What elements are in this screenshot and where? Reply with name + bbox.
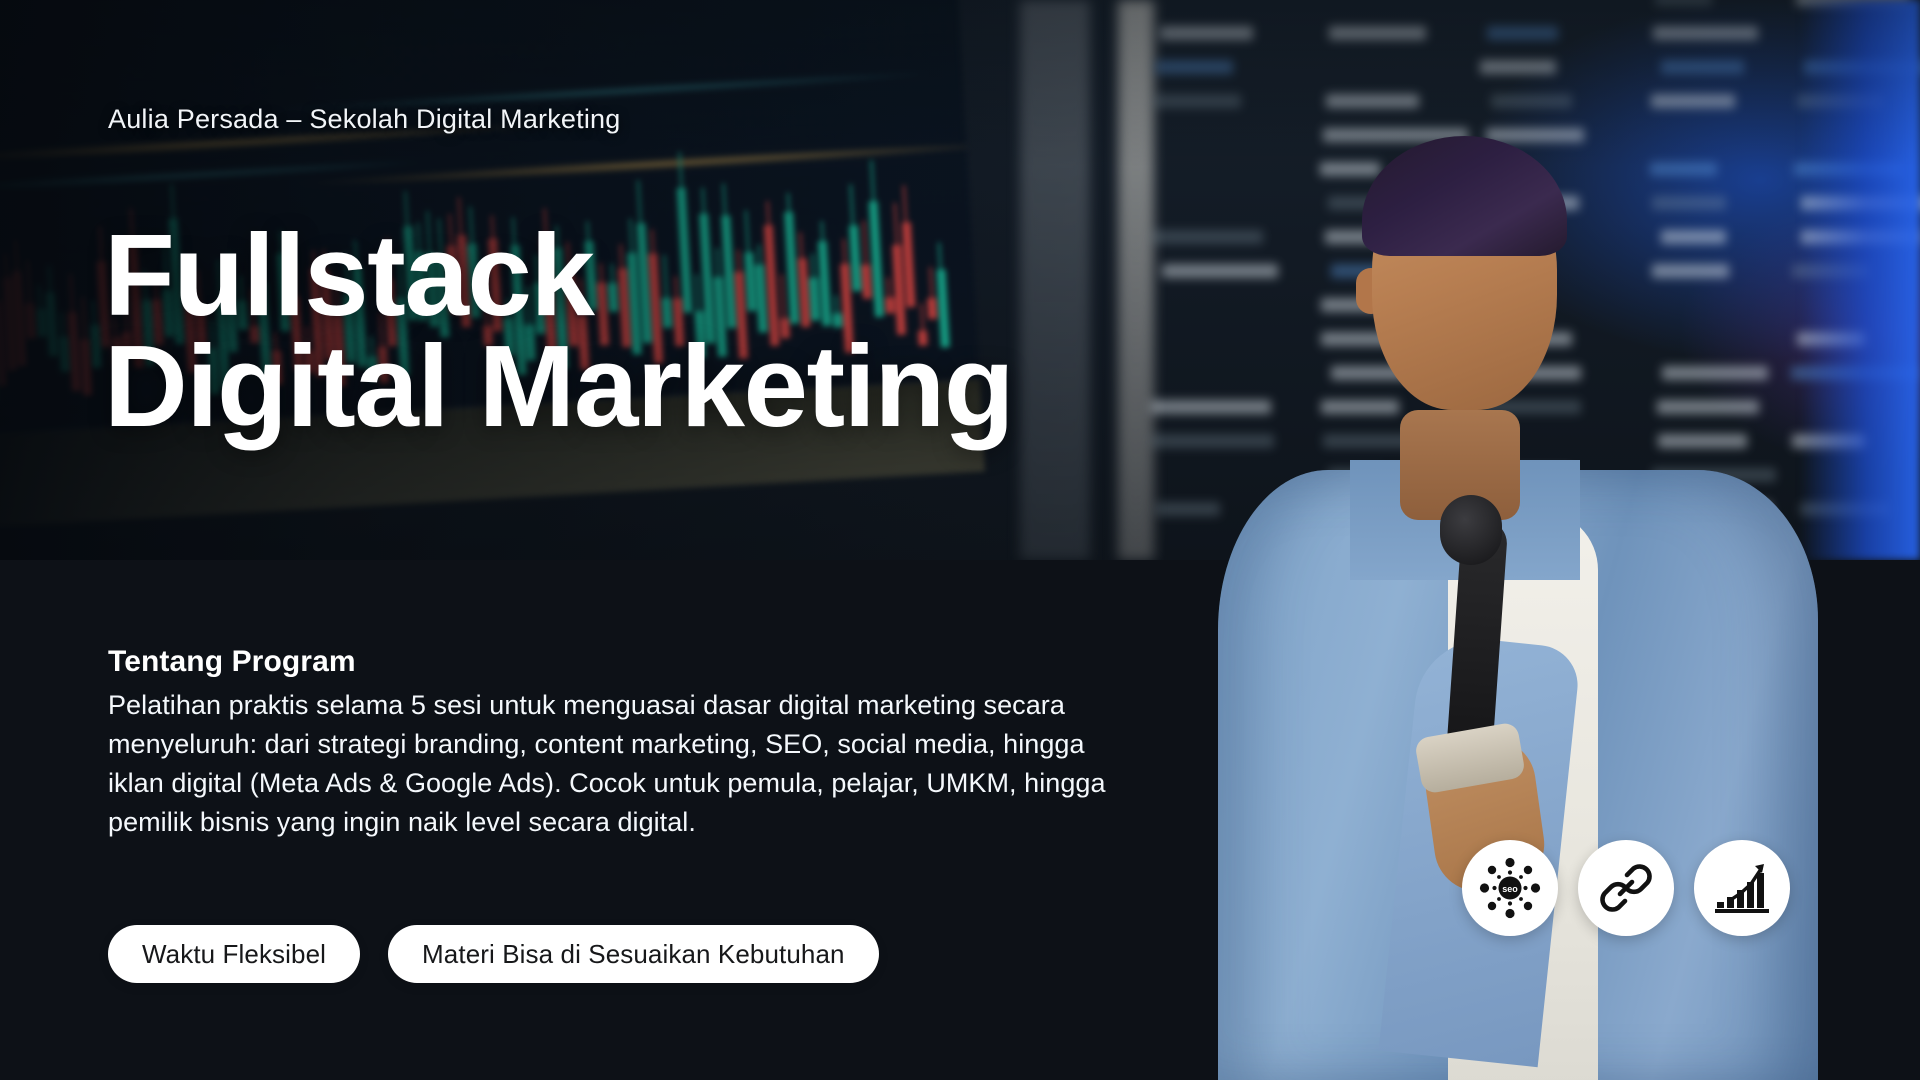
badge-link[interactable] bbox=[1578, 840, 1674, 936]
feature-pill-row: Waktu Fleksibel Materi Bisa di Sesuaikan… bbox=[108, 925, 879, 983]
seo-icon: seo bbox=[1477, 855, 1543, 921]
presenter-hair bbox=[1362, 136, 1567, 256]
page-title: Fullstack Digital Marketing bbox=[104, 220, 1013, 443]
badge-seo[interactable]: seo bbox=[1462, 840, 1558, 936]
about-section-body: Pelatihan praktis selama 5 sesi untuk me… bbox=[108, 686, 1138, 842]
seo-icon-label: seo bbox=[1502, 884, 1518, 894]
brand-eyebrow: Aulia Persada – Sekolah Digital Marketin… bbox=[108, 104, 620, 135]
pill-waktu-fleksibel[interactable]: Waktu Fleksibel bbox=[108, 925, 360, 983]
service-badge-row: seo bbox=[1462, 840, 1790, 936]
badge-growth[interactable] bbox=[1694, 840, 1790, 936]
microphone-head bbox=[1440, 495, 1502, 565]
about-section-title: Tentang Program bbox=[108, 645, 356, 679]
pill-materi-sesuai-kebutuhan[interactable]: Materi Bisa di Sesuaikan Kebutuhan bbox=[388, 925, 879, 983]
hero-banner: 0 16:30 16:40 16:50 Aulia Persada – Seko… bbox=[0, 0, 1920, 1080]
headline-line-2: Digital Marketing bbox=[104, 331, 1013, 442]
growth-chart-icon bbox=[1711, 857, 1773, 919]
link-icon bbox=[1596, 858, 1656, 918]
